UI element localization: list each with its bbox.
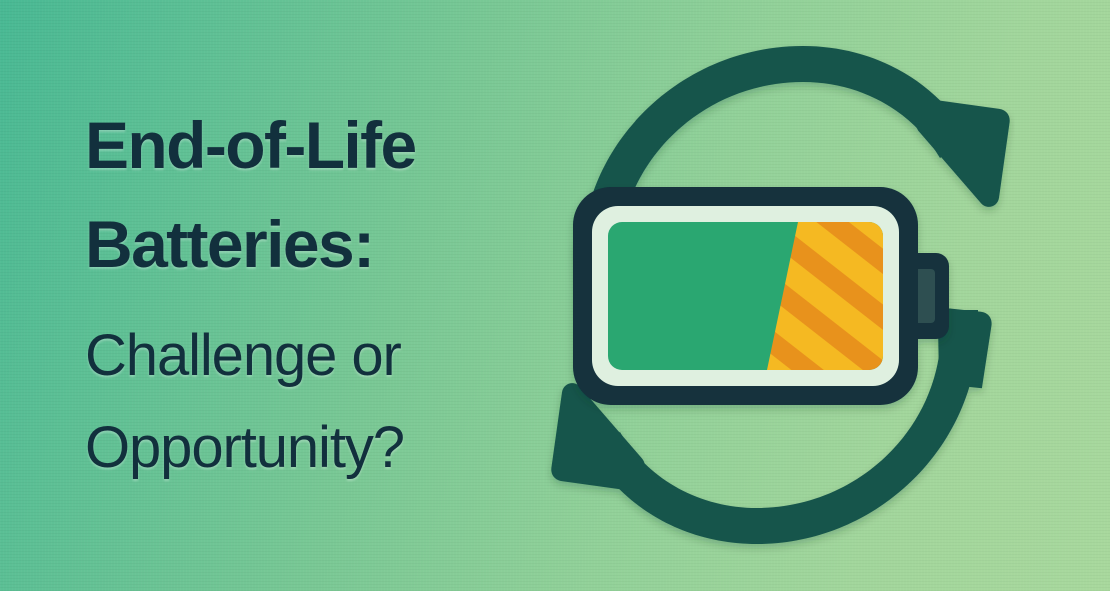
headline-subtitle-wrap: Challenge or Opportunity? [85, 310, 555, 494]
battery-icon [573, 187, 949, 405]
headline-block: End-of-Life Batteries: Challenge or Oppo… [85, 96, 555, 494]
headline-subtitle-line-1: Challenge or [85, 310, 555, 402]
headline-subtitle-line-2: Opportunity? [85, 402, 555, 494]
battery-charge-area [608, 222, 883, 370]
headline-title-line-1: End-of-Life [85, 96, 555, 195]
headline-title-line-2: Batteries: [85, 195, 555, 294]
banner-canvas: End-of-Life Batteries: Challenge or Oppo… [0, 0, 1110, 591]
battery-recycling-illustration [545, 10, 1015, 585]
